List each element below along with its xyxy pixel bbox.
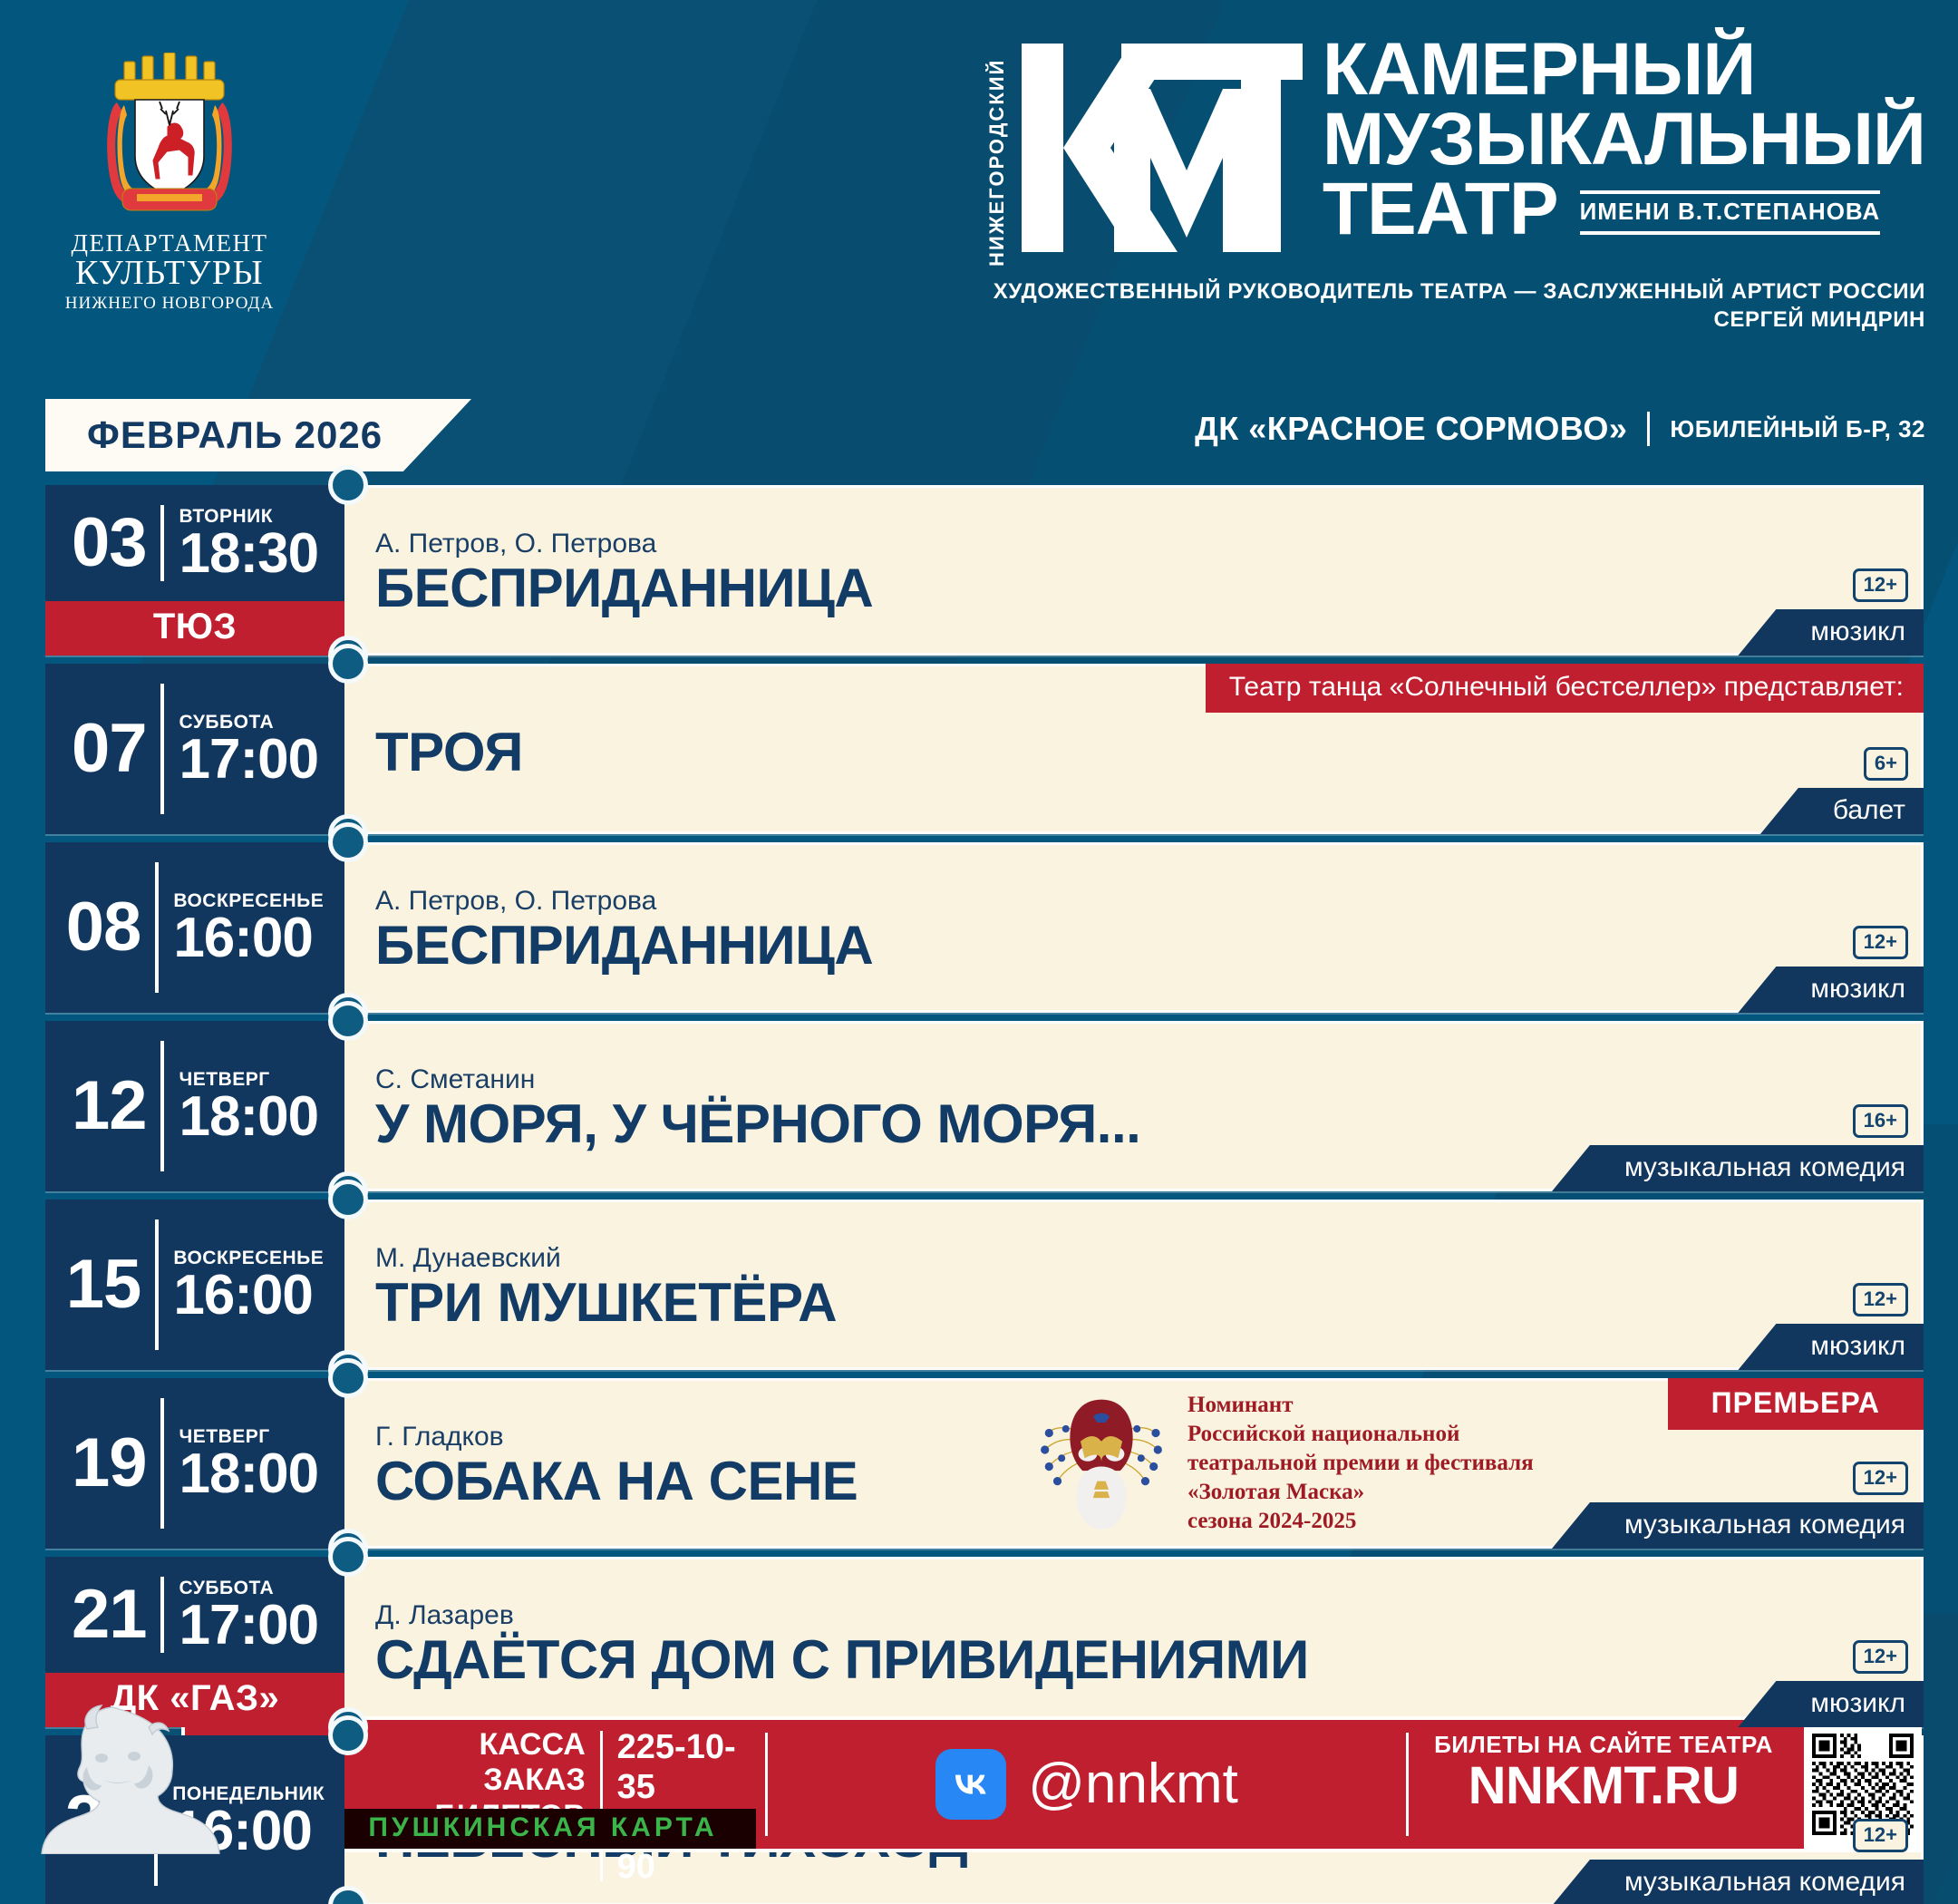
event-date-card: 19ЧЕТВЕРГ18:00 [45,1378,344,1549]
month-tab: ФЕВРАЛЬ 2026 [45,399,471,471]
site-url[interactable]: NNKMT.RU [1409,1759,1798,1812]
date-divider [160,1577,164,1653]
vk-block[interactable]: @nnkmt [768,1720,1406,1849]
event-time: 18:30 [179,529,318,579]
event-time: 16:00 [173,913,324,964]
event-genre-label: мюзикл [1738,1324,1924,1370]
box-office-phone[interactable]: 225-10-35 [617,1727,765,1807]
event-genre-label: музыкальная комедия [1552,1145,1924,1191]
premiere-badge: ПРЕМЬЕРА [1668,1378,1924,1430]
award-text: НоминантРоссийской национальнойтеатральн… [1187,1391,1534,1536]
event-time: 17:00 [179,1600,318,1651]
row-connector-dot-top [328,1358,368,1398]
schedule-row[interactable]: 19ЧЕТВЕРГ18:00Г. ГладковСОБАКА НА СЕНЕНо… [45,1378,1924,1549]
event-presenter-ribbon: Театр танца «Солнечный бестселлер» предс… [1206,664,1924,713]
row-connector-dot-top [328,1537,368,1577]
schedule-row-inner: 21СУББОТА17:00ДК «ГАЗ»Д. ЛазаревСДАЁТСЯ … [45,1557,1924,1727]
schedule-row[interactable]: 07СУББОТА17:00ТРОЯТеатр танца «Солнечный… [45,664,1924,834]
vk-glyph-icon [948,1762,994,1807]
pushkin-card-badge: ПУШКИНСКАЯ КАРТА [330,1809,756,1849]
event-date-card: 12ЧЕТВЕРГ18:00 [45,1021,344,1191]
department-line-1: ДЕПАРТАМЕНТ [56,230,283,256]
vk-handle[interactable]: @nnkmt [1028,1756,1238,1812]
age-rating-badge: 12+ [1853,1462,1908,1495]
logo-vertical-word: НИЖЕГОРОДСКИЙ [987,40,1007,267]
art-director-line-2: СЕРГЕЙ МИНДРИН [865,306,1925,334]
age-rating-badge: 12+ [1853,568,1908,602]
age-rating-badge: 12+ [1853,926,1908,959]
schedule-row-inner: 07СУББОТА17:00ТРОЯТеатр танца «Солнечный… [45,664,1924,834]
event-date-card: 15ВОСКРЕСЕНЬЕ16:00 [45,1200,344,1370]
schedule-row[interactable]: 03ВТОРНИК18:30ТЮЗА. Петров, О. ПетроваБЕ… [45,485,1924,656]
award-line-5: сезона 2024-2025 [1187,1507,1534,1536]
golden-mask-icon [1033,1395,1169,1531]
venue-name: ДК «КРАСНОЕ СОРМОВО» [1195,410,1627,448]
event-day: 15 [66,1255,141,1316]
event-genre-label: музыкальная комедия [1552,1860,1924,1904]
row-connector-dot-top [328,1001,368,1041]
schedule-row-inner: 12ЧЕТВЕРГ18:00С. СметанинУ МОРЯ, У ЧЁРНО… [45,1021,1924,1191]
kmt-monogram-icon [1013,34,1303,261]
award-line-1: Номинант [1187,1391,1534,1420]
schedule-row-inner: 03ВТОРНИК18:30ТЮЗА. Петров, О. ПетроваБЕ… [45,485,1924,656]
schedule-list: 03ВТОРНИК18:30ТЮЗА. Петров, О. ПетроваБЕ… [45,485,1924,1904]
event-genre-label: мюзикл [1738,967,1924,1013]
logo-word-muzykalny: МУЗЫКАЛЬНЫЙ [1323,104,1925,174]
theatre-schedule-poster: ДЕПАРТАМЕНТ КУЛЬТУРЫ НИЖНЕГО НОВГОРОДА Н… [0,0,1958,1904]
event-date-card: 03ВТОРНИК18:30ТЮЗ [45,485,344,656]
event-dow-time: ЧЕТВЕРГ18:00 [179,1070,318,1142]
pushkin-bust-icon [33,1691,223,1854]
event-date-main: 12ЧЕТВЕРГ18:00 [45,1021,344,1191]
schedule-row[interactable]: 15ВОСКРЕСЕНЬЕ16:00М. ДунаевскийТРИ МУШКЕ… [45,1200,1924,1370]
event-dow-time: СУББОТА17:00 [179,713,318,785]
logo-named-after: ИМЕНИ В.Т.СТЕПАНОВА [1580,190,1881,235]
event-body: Д. ЛазаревСДАЁТСЯ ДОМ С ПРИВИДЕНИЯМИ12+м… [344,1559,1921,1724]
event-title[interactable]: СДАЁТСЯ ДОМ С ПРИВИДЕНИЯМИ [375,1633,1921,1687]
date-divider [155,862,159,993]
age-rating-badge: 12+ [1853,1640,1908,1674]
row-connector-dot-top [328,465,368,505]
event-dow-time: ВОСКРЕСЕНЬЕ16:00 [173,1248,324,1321]
schedule-row[interactable]: 08ВОСКРЕСЕНЬЕ16:00А. Петров, О. ПетроваБ… [45,842,1924,1013]
box-office-label: КАССА [339,1727,586,1763]
venue-line: ДК «КРАСНОЕ СОРМОВО» ЮБИЛЕЙНЫЙ Б-Р, 32 [1195,410,1925,448]
event-body: М. ДунаевскийТРИ МУШКЕТЁРА12+мюзикл [344,1202,1921,1367]
box-office-separator [600,1731,603,1881]
event-time: 17:00 [179,734,318,785]
nizhny-novgorod-coat-of-arms-icon [97,53,242,218]
event-date-card: 07СУББОТА17:00 [45,664,344,834]
art-director-line-1: ХУДОЖЕСТВЕННЫЙ РУКОВОДИТЕЛЬ ТЕАТРА — ЗАС… [865,277,1925,306]
event-body: А. Петров, О. ПетроваБЕСПРИДАННИЦА12+мюз… [344,488,1921,653]
event-author: Д. Лазарев [375,1600,1921,1631]
event-time: 18:00 [179,1449,318,1500]
venue-address: ЮБИЛЕЙНЫЙ Б-Р, 32 [1670,415,1925,443]
event-author: М. Дунаевский [375,1243,1921,1274]
event-genre-label: балет [1760,788,1924,834]
date-divider [160,1398,164,1529]
event-date-main: 19ЧЕТВЕРГ18:00 [45,1378,344,1549]
site-block: БИЛЕТЫ НА САЙТЕ ТЕАТРА NNKMT.RU [1409,1720,1798,1849]
event-genre-label: мюзикл [1738,1681,1924,1727]
award-line-3: театральной премии и фестиваля [1187,1449,1534,1478]
event-date-main: 15ВОСКРЕСЕНЬЕ16:00 [45,1200,344,1370]
event-title[interactable]: БЕСПРИДАННИЦА [375,918,1921,973]
date-divider [160,505,164,581]
award-line-2: Российской национальной [1187,1420,1534,1449]
theatre-logo-block: НИЖЕГОРОДСКИЙ КАМЕРНЫЙ МУЗЫКАЛЬНЫЙ ТЕАТР… [865,34,1925,334]
event-dow-time: ЧЕТВЕРГ18:00 [179,1427,318,1500]
event-day: 03 [72,513,147,574]
row-connector-dot-top [328,822,368,862]
logo-word-kamerny: КАМЕРНЫЙ [1323,34,1925,104]
event-title[interactable]: ТРОЯ [375,725,1921,780]
schedule-row-inner: 19ЧЕТВЕРГ18:00Г. ГладковСОБАКА НА СЕНЕНо… [45,1378,1924,1549]
event-venue-badge: ТЮЗ [45,601,344,656]
event-day: 08 [66,898,141,958]
event-date-main: 21СУББОТА17:00 [45,1557,344,1673]
event-author: А. Петров, О. Петрова [375,886,1921,917]
event-genre-label: музыкальная комедия [1552,1502,1924,1549]
schedule-row[interactable]: 12ЧЕТВЕРГ18:00С. СметанинУ МОРЯ, У ЧЁРНО… [45,1021,1924,1191]
event-date-main: 03ВТОРНИК18:30 [45,485,344,601]
event-date-card: 08ВОСКРЕСЕНЬЕ16:00 [45,842,344,1013]
golden-mask-award: НоминантРоссийской национальнойтеатральн… [1033,1391,1534,1536]
event-author: А. Петров, О. Петрова [375,529,1921,559]
age-rating-badge: 12+ [1853,1283,1908,1316]
schedule-row[interactable]: 21СУББОТА17:00ДК «ГАЗ»Д. ЛазаревСДАЁТСЯ … [45,1557,1924,1727]
event-dow-time: ВТОРНИК18:30 [179,507,318,579]
event-day: 07 [72,719,147,780]
department-of-culture-block: ДЕПАРТАМЕНТ КУЛЬТУРЫ НИЖНЕГО НОВГОРОДА [56,53,283,315]
event-title[interactable]: ТРИ МУШКЕТЁРА [375,1276,1921,1330]
date-divider [155,1219,159,1350]
age-rating-badge: 16+ [1853,1104,1908,1138]
event-day: 19 [72,1433,147,1494]
event-dow-time: СУББОТА17:00 [179,1579,318,1651]
event-author: С. Сметанин [375,1064,1921,1095]
site-top-label: БИЛЕТЫ НА САЙТЕ ТЕАТРА [1409,1731,1798,1759]
event-date-main: 07СУББОТА17:00 [45,664,344,834]
event-title[interactable]: У МОРЯ, У ЧЁРНОГО МОРЯ... [375,1097,1921,1151]
schedule-row-inner: 08ВОСКРЕСЕНЬЕ16:00А. Петров, О. ПетроваБ… [45,842,1924,1013]
schedule-row-inner: 15ВОСКРЕСЕНЬЕ16:00М. ДунаевскийТРИ МУШКЕ… [45,1200,1924,1370]
department-line-2: КУЛЬТУРЫ [56,256,283,292]
event-time: 16:00 [173,1270,324,1321]
event-genre-label: мюзикл [1738,609,1924,656]
event-dow-time: ВОСКРЕСЕНЬЕ16:00 [173,891,324,964]
vk-icon[interactable] [935,1749,1006,1820]
age-rating-badge: 6+ [1864,747,1908,781]
department-line-3: НИЖНЕГО НОВГОРОДА [56,294,283,315]
event-time: 18:00 [179,1092,318,1142]
event-date-main: 08ВОСКРЕСЕНЬЕ16:00 [45,842,344,1013]
event-body: ТРОЯТеатр танца «Солнечный бестселлер» п… [344,666,1921,831]
pushkin-bust [36,1716,208,1852]
venue-separator [1647,412,1650,446]
row-connector-dot-top [328,1180,368,1219]
event-day: 12 [72,1076,147,1137]
pushkin-card-label: ПУШКИНСКАЯ КАРТА [368,1812,717,1842]
row-connector-dot-top [328,1715,368,1755]
row-connector-dot-top [328,644,368,684]
age-rating-badge: 12+ [1853,1819,1908,1852]
date-divider [160,1041,164,1171]
logo-word-teatr: ТЕАТР [1323,174,1558,244]
event-day: 21 [72,1585,147,1646]
event-body: С. СметанинУ МОРЯ, У ЧЁРНОГО МОРЯ...16+м… [344,1024,1921,1189]
award-line-4: «Золотая Маска» [1187,1478,1534,1507]
event-body: А. Петров, О. ПетроваБЕСПРИДАННИЦА12+мюз… [344,845,1921,1010]
event-body: Г. ГладковСОБАКА НА СЕНЕНоминантРоссийск… [344,1381,1921,1546]
event-title[interactable]: БЕСПРИДАННИЦА [375,561,1921,616]
date-divider [160,684,164,814]
footer-red-bar: КАССА ЗАКАЗ БИЛЕТОВ 225-10-35 434-15-90 … [181,1716,1922,1852]
